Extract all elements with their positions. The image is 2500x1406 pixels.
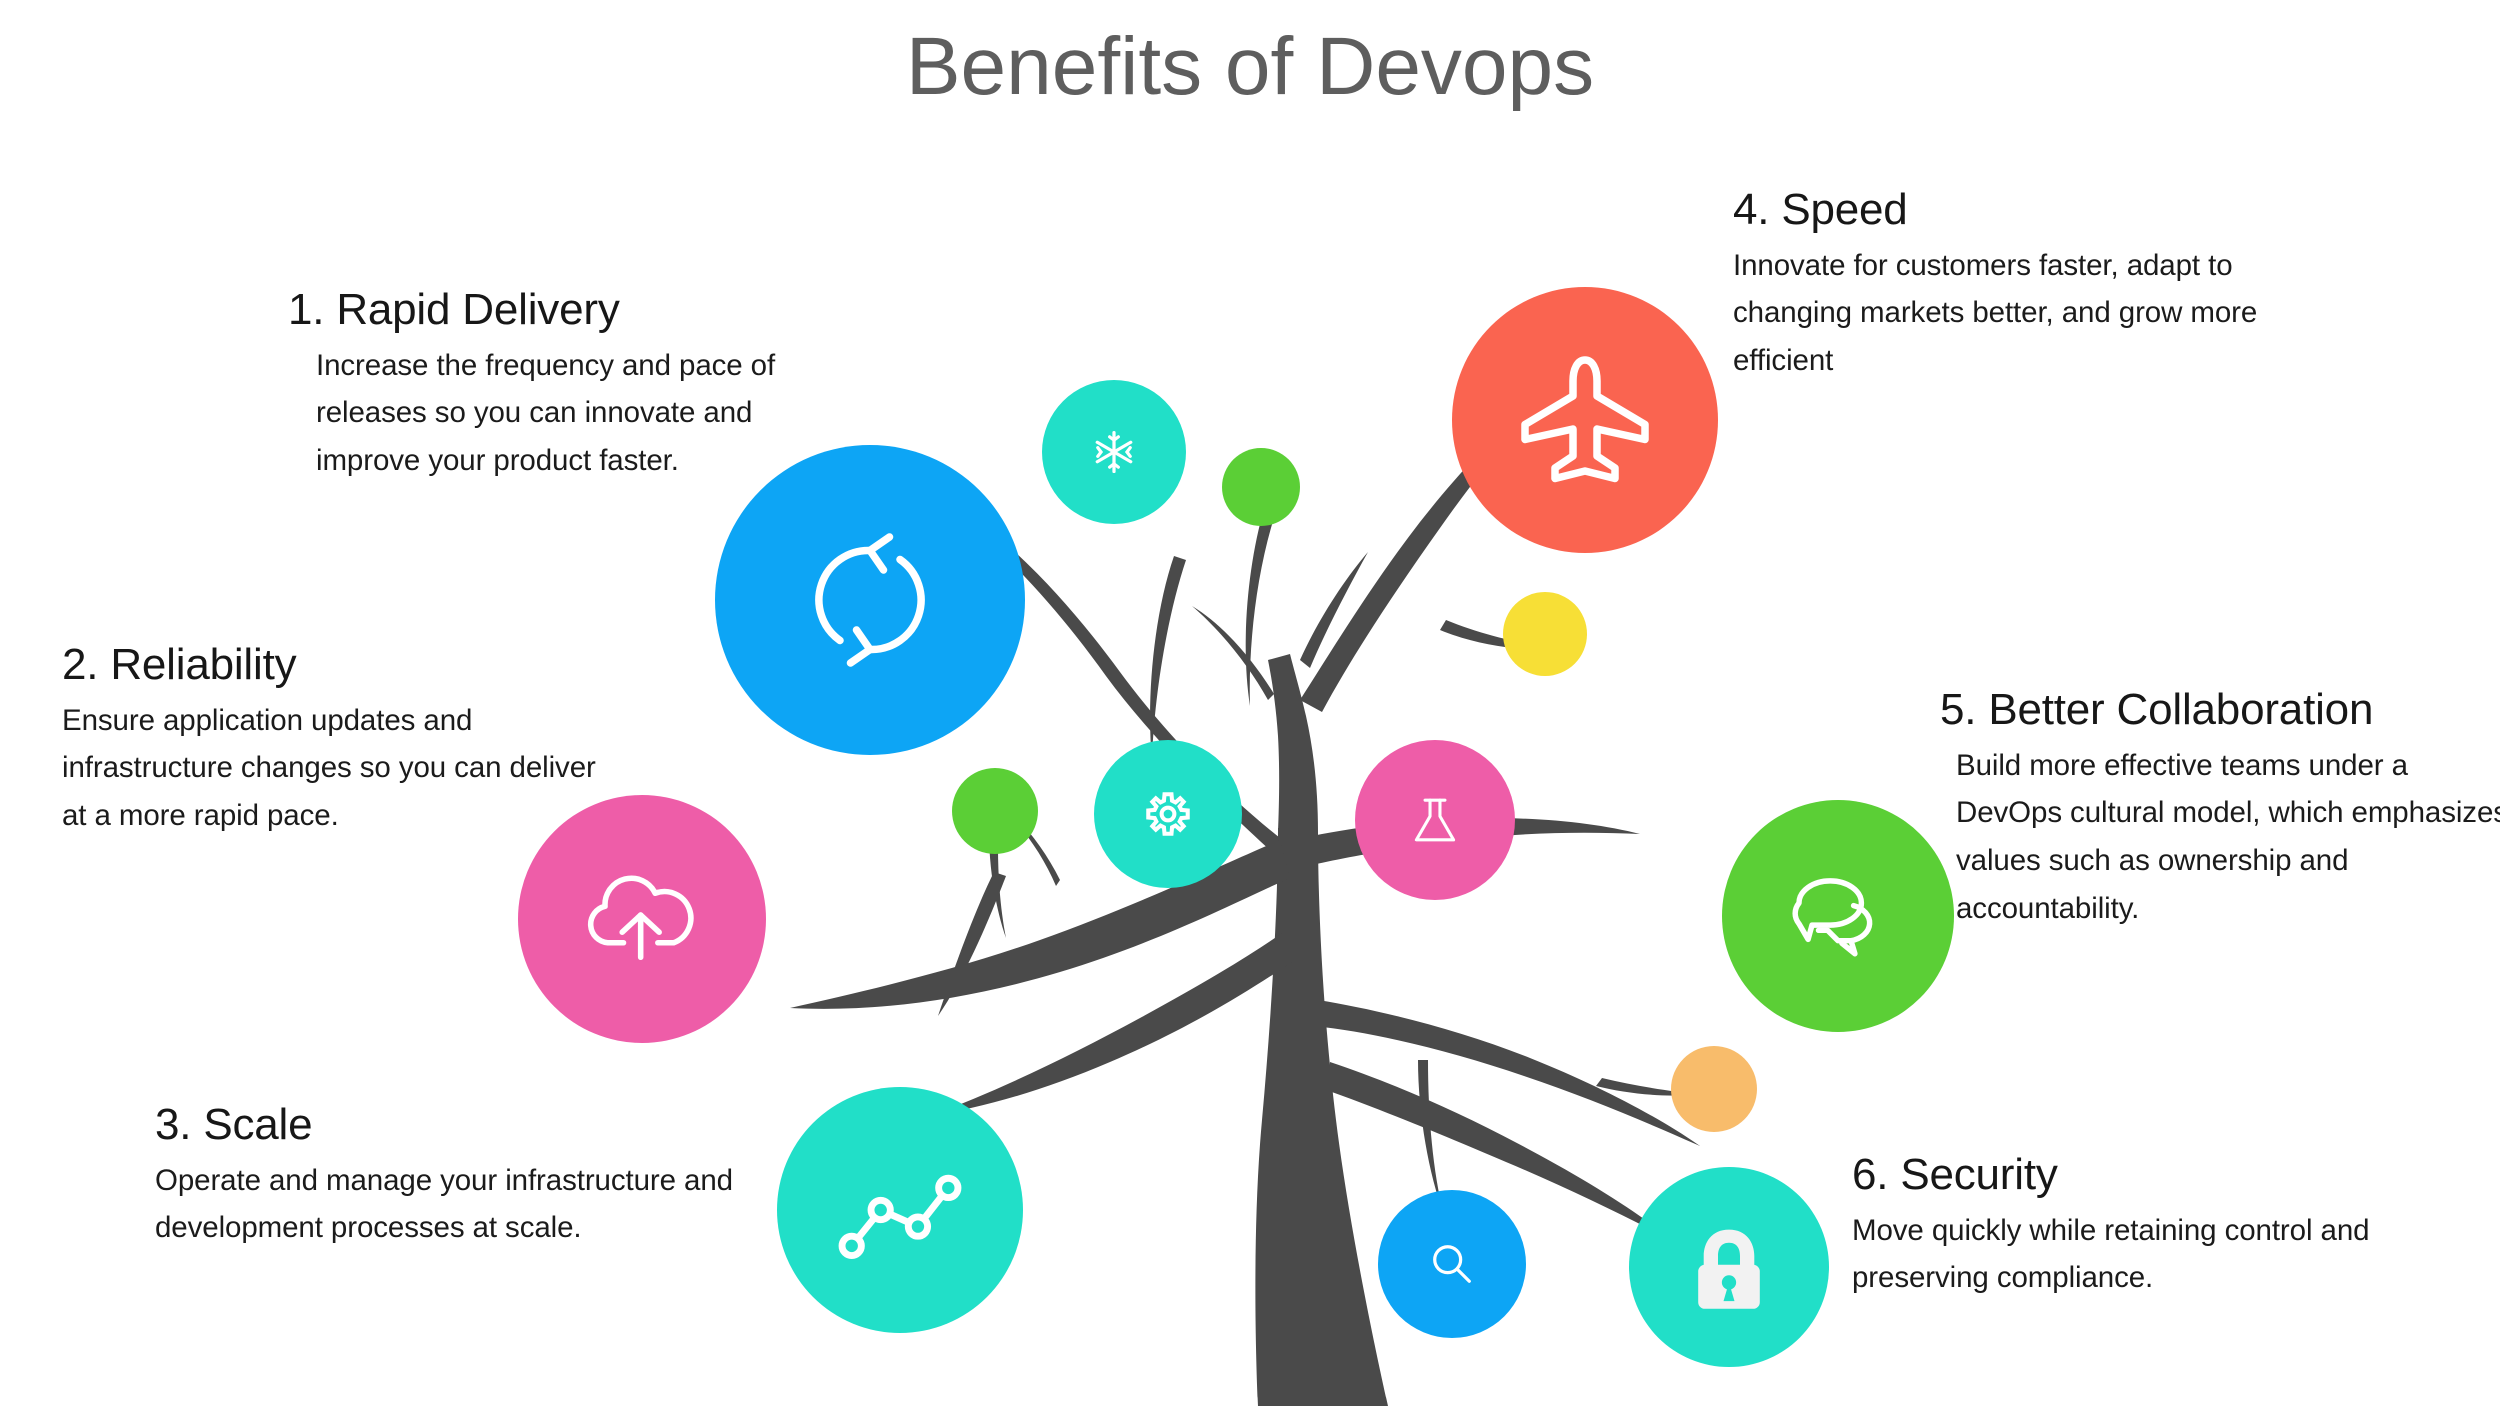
- node-scale[interactable]: [777, 1087, 1023, 1333]
- airplane-icon: [1510, 345, 1660, 495]
- magnifier-icon: [1425, 1237, 1479, 1291]
- node-rapid-delivery[interactable]: [715, 445, 1025, 755]
- node-gear[interactable]: [1094, 740, 1242, 888]
- benefit-block-security: 6. Security Move quickly while retaining…: [1852, 1150, 2472, 1302]
- benefit-heading-3: 3. Scale: [155, 1100, 775, 1151]
- snowflake-icon: [1087, 425, 1141, 479]
- node-snowflake[interactable]: [1042, 380, 1186, 524]
- node-green-dot-upper: [1222, 448, 1300, 526]
- benefit-block-scale: 3. Scale Operate and manage your infrast…: [155, 1100, 775, 1252]
- node-peach-dot: [1671, 1046, 1757, 1132]
- benefit-body-5: Build more effective teams under a DevOp…: [1956, 742, 2500, 933]
- infographic-canvas: Benefits of Devops: [0, 0, 2500, 1406]
- benefit-body-2: Ensure application updates and infrastru…: [62, 697, 602, 840]
- benefit-heading-6: 6. Security: [1852, 1150, 2472, 1201]
- speech-bubbles-icon: [1773, 851, 1903, 981]
- benefit-block-speed: 4. Speed Innovate for customers faster, …: [1733, 185, 2353, 385]
- benefit-heading-5: 5. Better Collaboration: [1940, 685, 2500, 736]
- benefit-body-4: Innovate for customers faster, adapt to …: [1733, 242, 2353, 385]
- node-green-dot-lower: [952, 768, 1038, 854]
- node-search[interactable]: [1378, 1190, 1526, 1338]
- sync-arrows-icon: [795, 525, 945, 675]
- node-speed[interactable]: [1452, 287, 1718, 553]
- benefit-body-6: Move quickly while retaining control and…: [1852, 1207, 2472, 1303]
- node-flask[interactable]: [1355, 740, 1515, 900]
- benefit-heading-2: 2. Reliability: [62, 640, 602, 691]
- node-yellow-dot: [1503, 592, 1587, 676]
- benefit-block-better-collaboration: 5. Better Collaboration Build more effec…: [1940, 685, 2500, 933]
- benefit-block-reliability: 2. Reliability Ensure application update…: [62, 640, 602, 840]
- line-chart-icon: [831, 1141, 969, 1279]
- benefit-body-3: Operate and manage your infrastructure a…: [155, 1157, 775, 1253]
- node-security[interactable]: [1629, 1167, 1829, 1367]
- gear-icon: [1139, 785, 1197, 843]
- benefit-heading-1: 1. Rapid Delivery: [288, 285, 860, 336]
- lock-icon: [1674, 1212, 1784, 1322]
- benefit-block-rapid-delivery: 1. Rapid Delivery Increase the frequency…: [300, 285, 860, 485]
- cloud-upload-icon: [576, 853, 708, 985]
- benefit-heading-4: 4. Speed: [1733, 185, 2353, 236]
- flask-icon: [1404, 789, 1466, 851]
- node-better-collaboration[interactable]: [1722, 800, 1954, 1032]
- benefit-body-1: Increase the frequency and pace of relea…: [316, 342, 860, 485]
